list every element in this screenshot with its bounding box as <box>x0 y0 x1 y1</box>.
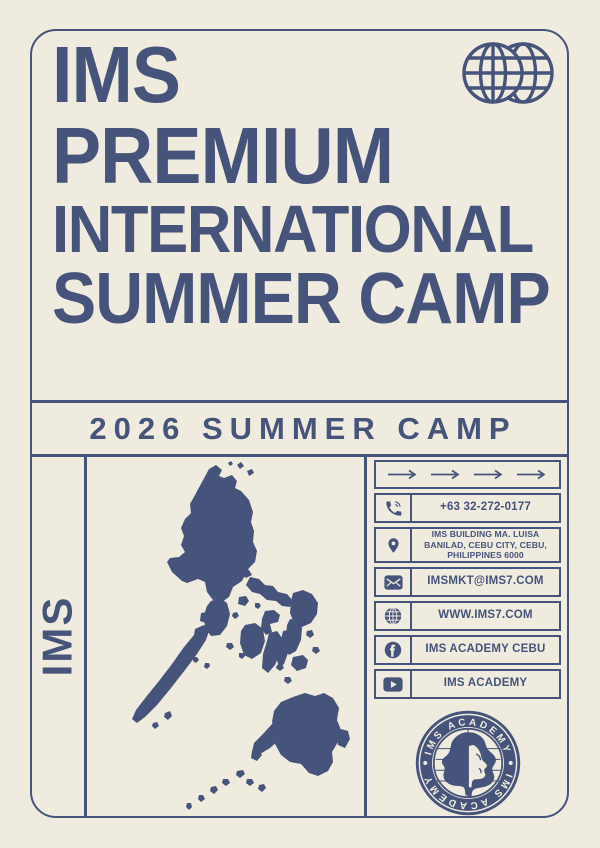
ims-academy-seal: IMS ACADEMY IMS ACADEMY <box>367 708 568 818</box>
arrow-right-icon <box>387 469 419 480</box>
contact-column: +63 32-272-0177 IMS BUILDING MA. LUISA B… <box>367 456 568 818</box>
contact-row-address[interactable]: IMS BUILDING MA. LUISA BANILAD, CEBU CIT… <box>374 527 561 563</box>
email-icon <box>376 569 412 595</box>
globe-icon <box>376 603 412 629</box>
contact-row-youtube[interactable]: IMS ACADEMY <box>374 669 561 699</box>
subtitle: 2026 SUMMER CAMP <box>31 404 568 454</box>
phone-icon <box>376 495 412 521</box>
vertical-brand-label: IMS <box>34 596 82 677</box>
contact-website-label: WWW.IMS7.COM <box>412 609 559 623</box>
globe-icon <box>458 40 556 106</box>
facebook-icon <box>376 637 412 663</box>
arrow-right-icon <box>430 469 462 480</box>
youtube-icon <box>376 671 412 697</box>
location-icon <box>376 529 412 561</box>
title-line-3: INTERNATIONAL <box>52 197 466 262</box>
contact-row-website[interactable]: WWW.IMS7.COM <box>374 601 561 631</box>
contact-row-facebook[interactable]: IMS ACADEMY CEBU <box>374 635 561 665</box>
contact-row-phone[interactable]: +63 32-272-0177 <box>374 493 561 523</box>
title-line-4: SUMMER CAMP <box>52 265 466 335</box>
arrow-right-icon <box>473 469 505 480</box>
divider-above-subtitle <box>31 400 568 403</box>
contact-row-email[interactable]: IMSMKT@IMS7.COM <box>374 567 561 597</box>
arrow-right-icon <box>516 469 548 480</box>
vertical-brand: IMS <box>31 454 84 818</box>
contact-youtube-label: IMS ACADEMY <box>412 677 559 691</box>
contact-email-label: IMSMKT@IMS7.COM <box>412 575 559 589</box>
poster: IMS PREMIUM INTERNATIONAL SUMMER CAMP <box>0 0 600 848</box>
title-line-1: IMS <box>52 36 466 114</box>
headline-block: IMS PREMIUM INTERNATIONAL SUMMER CAMP <box>52 36 502 338</box>
contact-phone-label: +63 32-272-0177 <box>412 501 559 515</box>
contact-facebook-label: IMS ACADEMY CEBU <box>412 643 559 657</box>
arrow-row <box>374 460 561 489</box>
philippines-map <box>87 456 364 818</box>
title-line-2: PREMIUM <box>52 117 466 195</box>
contact-address-label: IMS BUILDING MA. LUISA BANILAD, CEBU CIT… <box>412 529 559 560</box>
